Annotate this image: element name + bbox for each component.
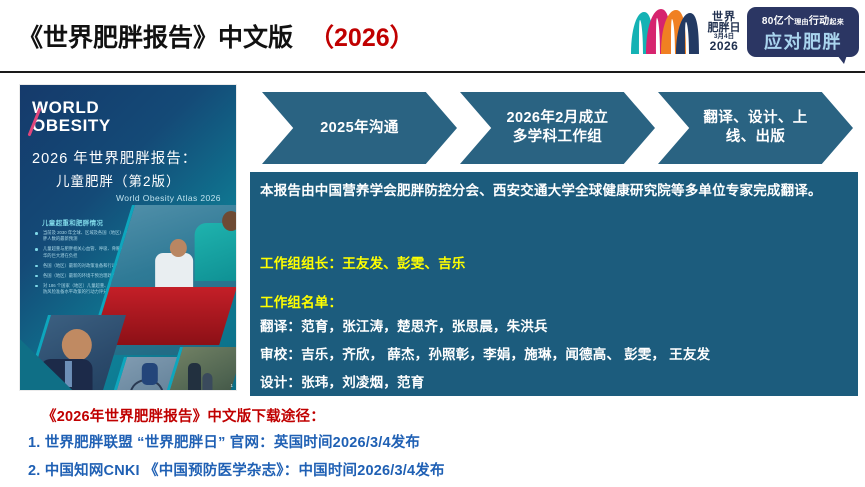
campaign-speech-bubble: 80亿个理由行动起来 应对肥胖: [747, 7, 859, 57]
brand-word-obesity: OBESITY: [32, 117, 111, 135]
title-divider: [0, 71, 865, 73]
translation-info-panel: 本报告由中国营养学会肥胖防控分会、西安交通大学全球健康研究院等多单位专家完成翻译…: [250, 172, 858, 396]
page-title: 《世界肥胖报告》中文版 （2026）: [18, 18, 415, 54]
roster-row: 翻译：范育，张江涛，楚思齐，张思晨，朱洪兵: [260, 315, 548, 335]
cover-title-line-2: 儿童肥胖（第2版）: [56, 170, 236, 190]
campaign-slogan-line-1: 80亿个理由行动起来: [762, 12, 844, 27]
campaign-slogan-line-2: 应对肥胖: [764, 28, 842, 54]
slide-root: 《世界肥胖报告》中文版 （2026） 世界 肥胖日 3月4日 2026 80亿个…: [0, 0, 865, 487]
report-cover-image: WORLD OBESITY 2026 年世界肥胖报告： 儿童肥胖（第2版） Wo…: [20, 85, 236, 390]
flow-step-1-label: 2025年沟通: [314, 119, 405, 138]
roster-row: 设计：张玮，刘凌烟，范育: [260, 371, 424, 391]
flow-step-2[interactable]: 2026年2月成立 多学科工作组: [460, 92, 655, 164]
panel-workgroup-leader: 工作组组长：王友发、彭雯、吉乐: [260, 252, 466, 272]
download-info-line: 2. 中国知网CNKI 《中国预防医学杂志》：中国时间2026/3/4发布: [28, 459, 445, 480]
world-obesity-day-text: 世界 肥胖日 3月4日 2026: [703, 6, 745, 58]
cover-page-number: 1: [230, 383, 233, 388]
download-info-title: 《2026年世界肥胖报告》中文版下载途径：: [42, 405, 325, 426]
world-obesity-brand-logo: WORLD OBESITY: [32, 99, 111, 135]
roster-row: 审校：吉乐，齐欣， 薛杰，孙照彰，李娟，施琳，闻德高、 彭雯， 王友发: [260, 343, 710, 363]
flow-step-1[interactable]: 2025年沟通: [262, 92, 457, 164]
brand-word-world: WORLD: [32, 99, 111, 117]
panel-roster-title: 工作组名单：: [260, 291, 342, 311]
cover-title-line-1: 2026 年世界肥胖报告：: [32, 147, 227, 168]
page-title-main: 《世界肥胖报告》中文版: [18, 18, 293, 54]
flow-step-2-label: 2026年2月成立 多学科工作组: [501, 109, 615, 146]
panel-intro-text: 本报告由中国营养学会肥胖防控分会、西安交通大学全球健康研究院等多单位专家完成翻译…: [260, 181, 850, 202]
flow-step-3[interactable]: 翻译、设计、上 线、出版: [658, 92, 853, 164]
cover-title-english: World Obesity Atlas 2026: [116, 193, 221, 203]
page-title-year: （2026）: [309, 18, 415, 54]
cover-section-label: 儿童超重和肥胖情况: [42, 217, 103, 227]
download-info-line: 1. 世界肥胖联盟 “世界肥胖日” 官网：英国时间2026/3/4发布: [28, 431, 420, 452]
world-obesity-wave-icon: [627, 6, 701, 58]
flow-step-3-label: 翻译、设计、上 线、出版: [697, 109, 813, 146]
world-obesity-day-logo: 世界 肥胖日 3月4日 2026 80亿个理由行动起来 应对肥胖: [627, 3, 859, 61]
process-flow: 2025年沟通 2026年2月成立 多学科工作组 翻译、设计、上 线、出版: [262, 92, 856, 164]
logo-day-line-4: 2026: [710, 40, 739, 52]
